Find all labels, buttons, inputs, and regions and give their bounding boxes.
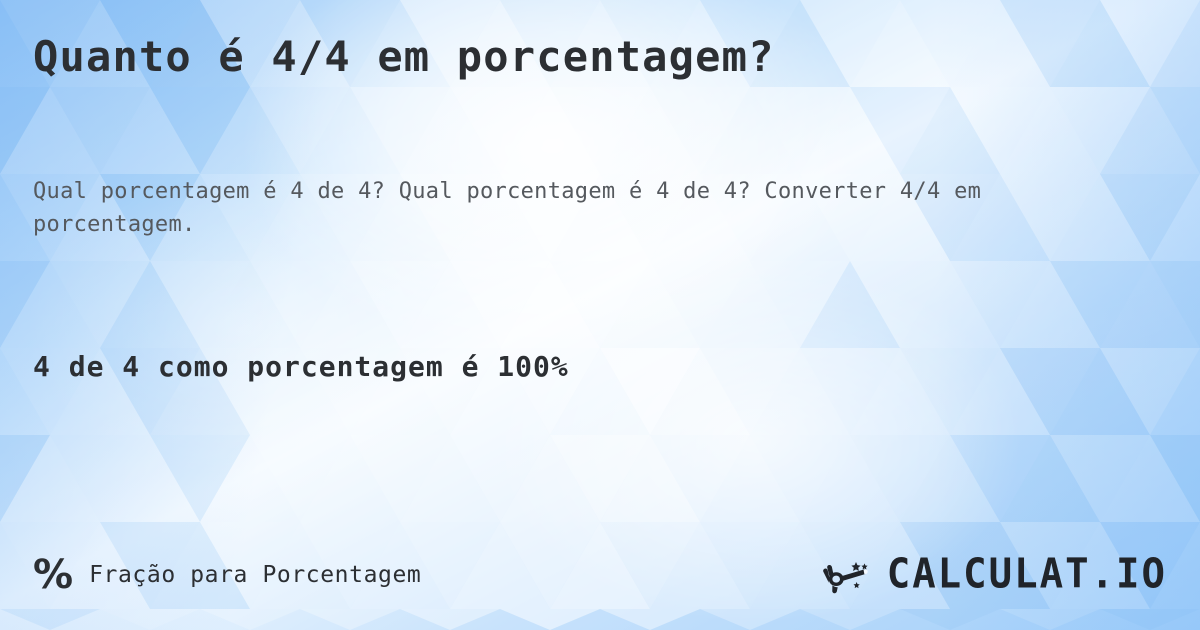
brand-name: CALCULAT.IO: [887, 554, 1167, 596]
footer: % Fração para Porcentagem: [33, 552, 1167, 598]
page-title: Quanto é 4/4 em porcentagem?: [33, 31, 775, 83]
page-subtitle: Qual porcentagem é 4 de 4? Qual porcenta…: [33, 175, 1103, 241]
result-statement: 4 de 4 como porcentagem é 100%: [33, 348, 569, 386]
brand-logo: CALCULAT.IO: [823, 555, 1167, 595]
footer-category-label: Fração para Porcentagem: [89, 560, 421, 590]
percent-icon: %: [33, 555, 73, 595]
share-card: Quanto é 4/4 em porcentagem? Qual porcen…: [0, 0, 1200, 630]
content-layer: Quanto é 4/4 em porcentagem? Qual porcen…: [0, 0, 1200, 630]
hand-holding-magic-wand-icon: [823, 555, 879, 595]
footer-category: % Fração para Porcentagem: [33, 555, 421, 595]
